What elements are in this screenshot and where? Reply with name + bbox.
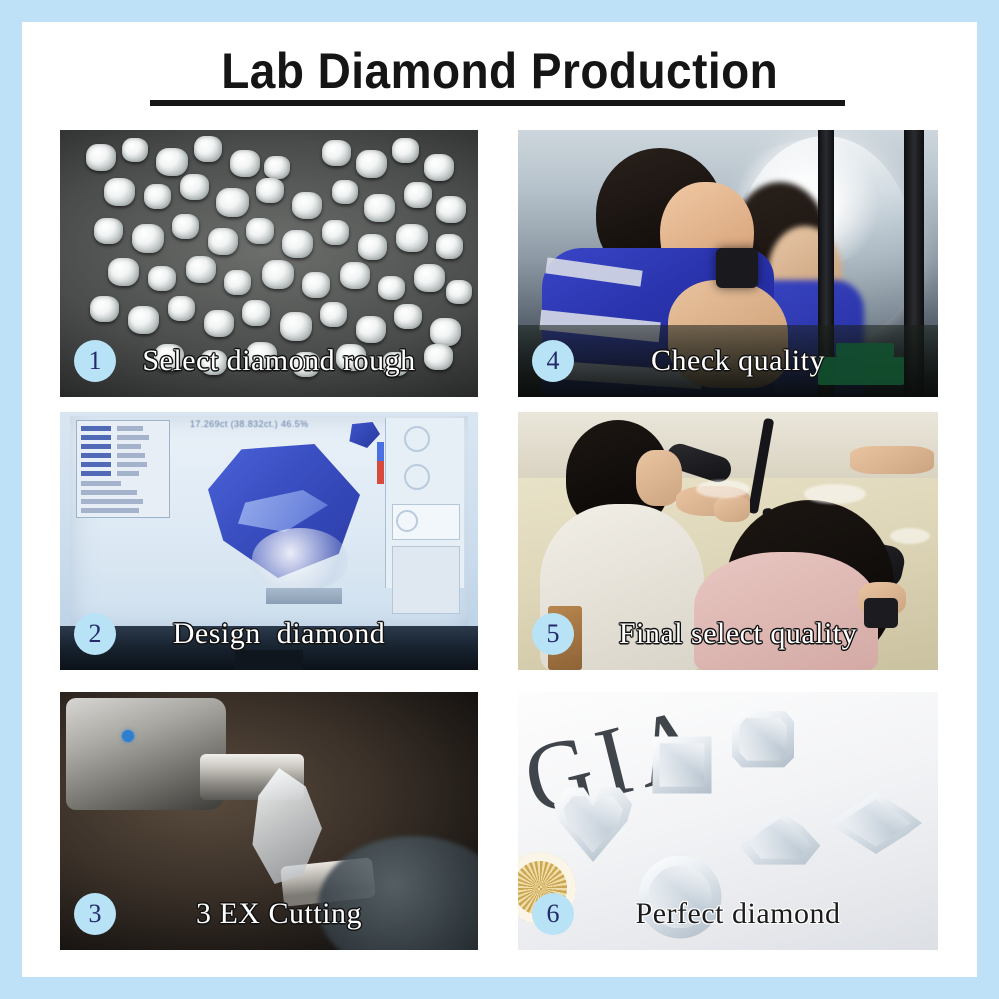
loupe-icon — [716, 248, 758, 288]
polishing-wheel — [318, 836, 478, 950]
step-tile-4[interactable]: 4 Check quality — [518, 130, 938, 397]
poster-root: Lab Diamond Production — [0, 0, 999, 999]
monitor-stand — [235, 650, 303, 670]
photo-check-quality — [518, 130, 938, 397]
third-person-hand — [850, 446, 934, 474]
photo-final-select — [518, 412, 938, 670]
diamond-marquise-cut — [830, 792, 922, 854]
model-pedestal — [266, 588, 342, 604]
photo-cutting — [60, 692, 478, 950]
circuit-board — [836, 343, 894, 357]
photo-perfect-diamonds: GIA — [518, 692, 938, 950]
cad-sidebar — [385, 418, 464, 588]
rough-outline-ghost — [252, 528, 348, 590]
chair-back — [548, 606, 582, 670]
diamond-pear-cut — [732, 812, 828, 868]
worker-1-hand — [714, 496, 750, 522]
photo-rough-diamonds — [60, 130, 478, 397]
cad-readout: 17.269ct (38.832ct.) 46.5% — [190, 419, 308, 429]
step-tile-5[interactable]: 5 Final select quality — [518, 412, 938, 670]
title-underline — [150, 100, 845, 106]
cad-screen: 17.269ct (38.832ct.) 46.5% — [70, 416, 468, 630]
circuit-board — [818, 357, 904, 385]
poster-panel: Lab Diamond Production — [22, 22, 977, 977]
step-tile-2[interactable]: 17.269ct (38.832ct.) 46.5% — [60, 412, 478, 670]
page-title-wrap: Lab Diamond Production — [22, 46, 977, 96]
loupe-icon — [864, 598, 898, 628]
gia-seal-icon — [518, 852, 576, 924]
diamond-cushion-cut — [732, 710, 794, 768]
blue-marker-dot — [122, 730, 134, 742]
cad-thumbnail-model — [346, 422, 380, 448]
diamond-round-cut — [638, 856, 722, 938]
worker-2-shirt — [694, 552, 878, 670]
step-tile-3[interactable]: 3 3 EX Cutting — [60, 692, 478, 950]
step-tile-1[interactable]: 1 Select diamond rough — [60, 130, 478, 397]
photo-design-diamond: 17.269ct (38.832ct.) 46.5% — [60, 412, 478, 670]
page-title: Lab Diamond Production — [221, 46, 778, 96]
step-tile-6[interactable]: GIA 6 Perfect diamond — [518, 692, 938, 950]
diamond-princess-cut — [650, 734, 714, 796]
cad-scale-bar — [377, 442, 384, 484]
steps-grid: 1 Select diamond rough — [60, 130, 940, 950]
cad-data-panel — [76, 420, 170, 518]
